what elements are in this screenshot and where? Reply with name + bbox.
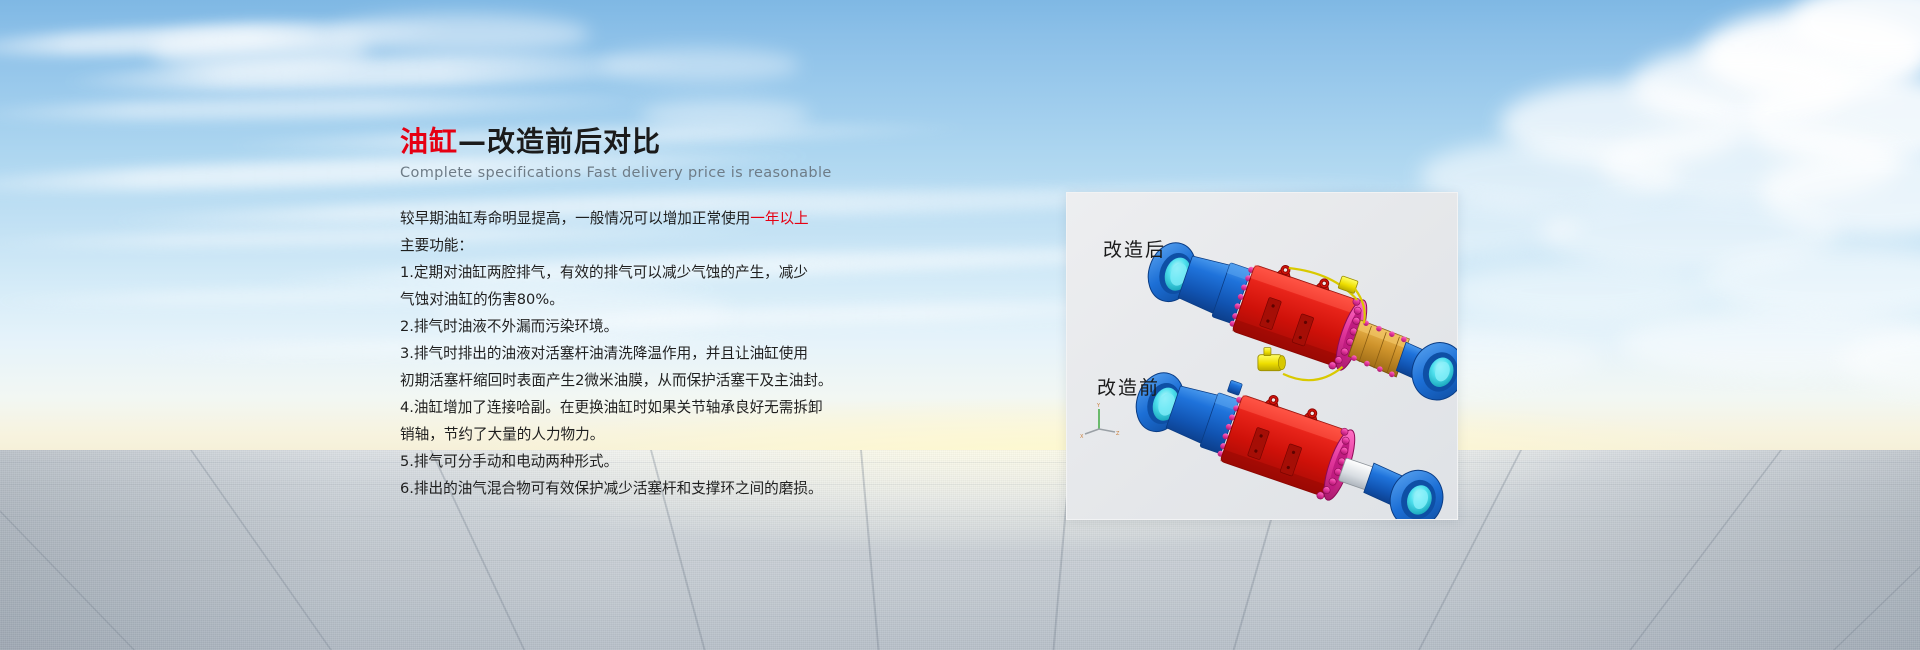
svg-text:Z: Z <box>1116 431 1120 437</box>
features-heading: 主要功能： <box>400 232 920 259</box>
page-title: 油缸—改造前后对比 <box>400 128 920 156</box>
svg-text:X: X <box>1080 434 1084 440</box>
feature-line: 初期活塞杆缩回时表面产生2微米油膜，从而保护活塞干及主油封。 <box>400 367 920 394</box>
product-image-inner: Y X Z 改造后 改造前 <box>1067 193 1457 519</box>
cloud-streak <box>0 89 660 126</box>
sky-background <box>0 0 1920 452</box>
label-before: 改造前 <box>1097 373 1160 400</box>
ground-texture <box>0 450 1920 650</box>
feature-line: 3.排气时排出的油液对活塞杆油清洗降温作用，并且让油缸使用 <box>400 340 920 367</box>
cloud-puff <box>640 100 810 130</box>
product-image-panel[interactable]: Y X Z 改造后 改造前 <box>1066 192 1458 520</box>
page-subtitle: Complete specifications Fast delivery pr… <box>400 165 920 181</box>
intro-prefix: 较早期油缸寿命明显提高，一般情况可以增加正常使用 <box>400 210 750 227</box>
label-after: 改造后 <box>1103 235 1166 262</box>
cumulus-cloud <box>1450 262 1710 320</box>
ground-plane <box>0 450 1920 650</box>
cloud-puff <box>330 14 590 54</box>
copy-block: 油缸—改造前后对比 Complete specifications Fast d… <box>400 128 920 502</box>
intro-line: 较早期油缸寿命明显提高，一般情况可以增加正常使用一年以上 <box>400 205 920 232</box>
cloud-puff <box>600 48 800 82</box>
intro-highlight: 一年以上 <box>750 210 808 227</box>
feature-line: 4.油缸增加了连接哈副。在更换油缸时如果关节轴承良好无需拆卸 <box>400 394 920 421</box>
feature-line: 销轴，节约了大量的人力物力。 <box>400 421 920 448</box>
feature-line: 2.排气时油液不外漏而污染环境。 <box>400 313 920 340</box>
feature-line: 6.排出的油气混合物可有效保护减少活塞杆和支撑环之间的磨损。 <box>400 475 920 502</box>
horizon-glow <box>0 342 1920 462</box>
feature-line: 气蚀对油缸的伤害80%。 <box>400 286 920 313</box>
feature-line: 5.排气可分手动和电动两种形式。 <box>400 448 920 475</box>
title-rest: —改造前后对比 <box>458 125 661 158</box>
title-highlight: 油缸 <box>400 125 458 158</box>
banner-stage: 油缸—改造前后对比 Complete specifications Fast d… <box>0 0 1920 650</box>
feature-line: 1.定期对油缸两腔排气，有效的排气可以减少气蚀的产生，减少 <box>400 259 920 286</box>
